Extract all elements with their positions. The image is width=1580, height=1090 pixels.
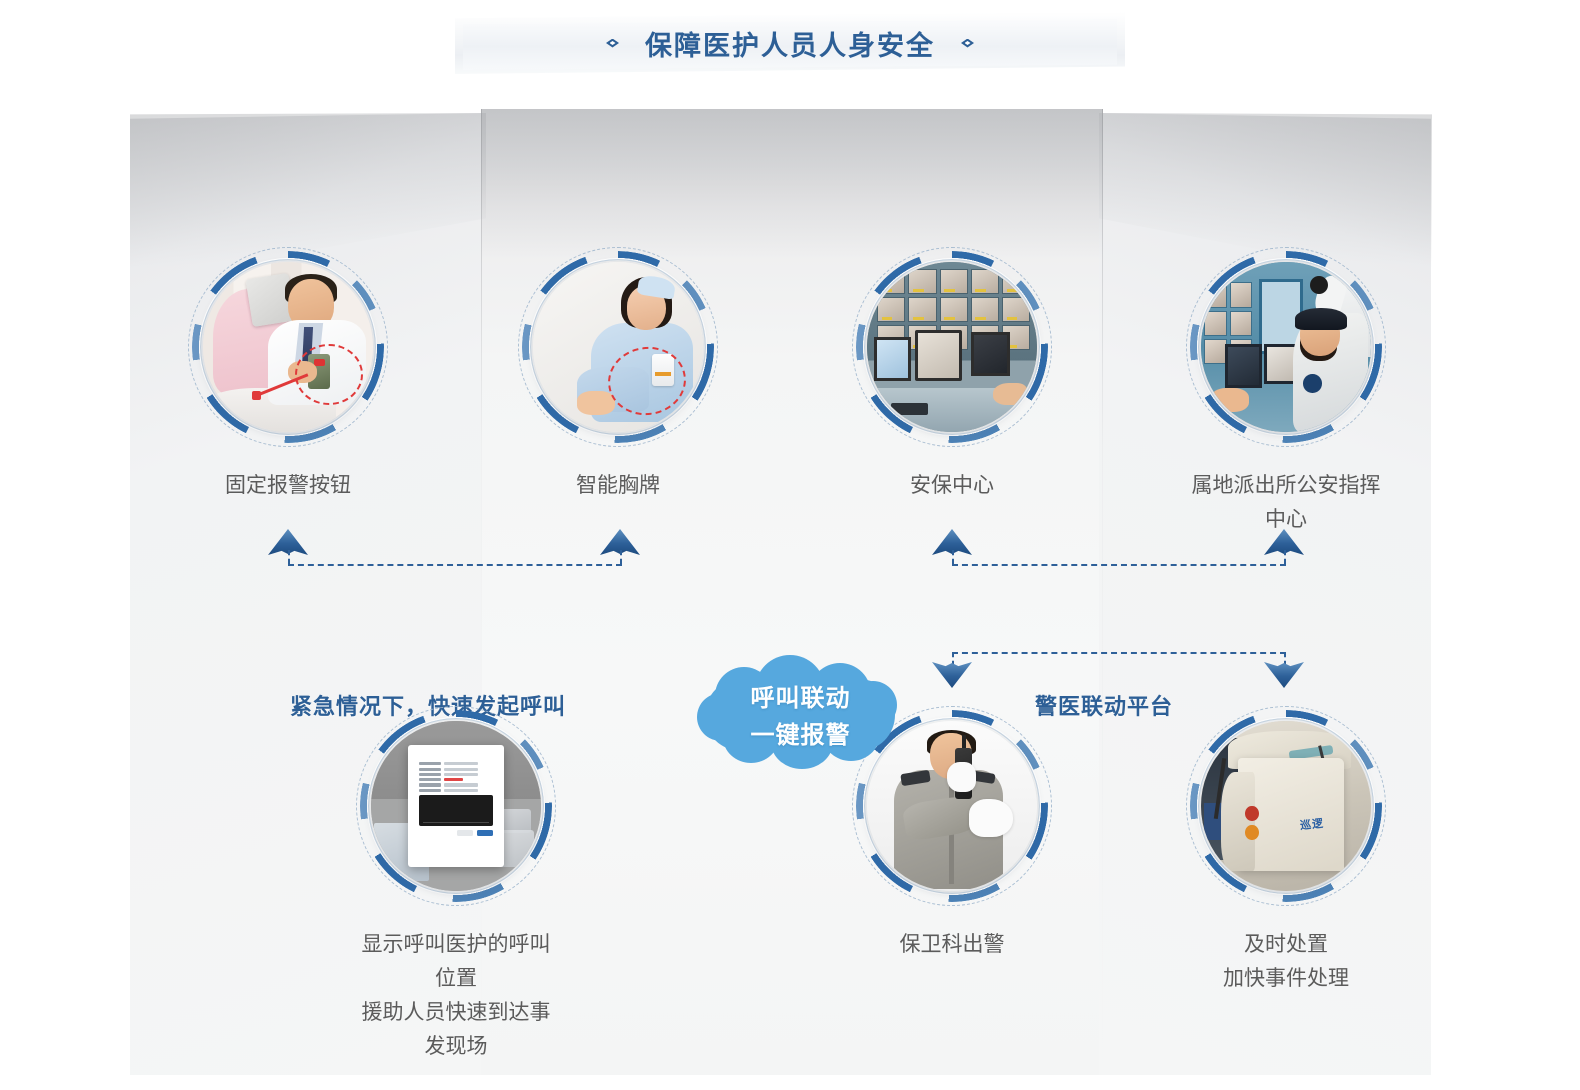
page-title: 保障医护人员人身安全 <box>645 24 935 63</box>
node-label-police-command: 属地派出所公安指挥中心 <box>1186 469 1386 537</box>
node-security-center[interactable]: 安保中心 <box>852 247 1052 503</box>
node-timely-disposal[interactable]: 巡逻 及时处置 加快事件处理 <box>1186 706 1386 996</box>
page-title-banner: 保障医护人员人身安全 <box>455 12 1125 74</box>
connector-label-right: 警医联动平台 <box>1035 689 1173 721</box>
cloud-label-line2: 一键报警 <box>751 715 851 750</box>
photo-security-monitoring-center-video-wall <box>867 262 1037 432</box>
cloud-label-line1: 呼叫联动 <box>751 678 851 713</box>
dash-line-right-top <box>952 564 1286 566</box>
circle-photo-frame <box>1186 247 1386 447</box>
node-fixed-alarm-button[interactable]: 固定报警按钮 <box>188 247 388 503</box>
node-label-timely-disposal: 及时处置 加快事件处理 <box>1186 928 1386 996</box>
photo-patrol-vehicle: 巡逻 <box>1201 721 1371 891</box>
dash-stem-left-up-2 <box>620 550 622 564</box>
node-smart-badge[interactable]: 智能胸牌 <box>518 247 718 503</box>
node-call-location-display[interactable]: 显示呼叫医护的呼叫位置 援助人员快速到达事发现场 <box>356 706 556 1064</box>
dash-line-right-bottom <box>952 652 1286 654</box>
alarm-detail-dialog <box>408 745 503 867</box>
vehicle-marking-text: 巡逻 <box>1299 815 1325 833</box>
node-label-security-dispatch: 保卫科出警 <box>852 928 1052 962</box>
node-label-security-center: 安保中心 <box>852 469 1052 503</box>
photo-local-police-station-command-center <box>1201 262 1371 432</box>
diagram-stage: 固定报警按钮 智能胸牌 <box>0 95 1580 1090</box>
dash-line-left-top <box>288 564 622 566</box>
circle-photo-frame <box>356 706 556 906</box>
dash-stem-left-up-1 <box>288 550 290 564</box>
panel-fold-right <box>1102 109 1103 1075</box>
photo-doctor-pressing-fixed-alarm-button <box>203 262 373 432</box>
photo-alarm-detail-dialog-screenshot <box>371 721 541 891</box>
node-police-command[interactable]: 属地派出所公安指挥中心 <box>1186 247 1386 537</box>
node-label-call-location-display: 显示呼叫医护的呼叫位置 援助人员快速到达事发现场 <box>356 928 556 1064</box>
photo-nurse-wearing-smart-badge <box>533 262 703 432</box>
diamond-icon-left <box>606 39 619 48</box>
node-label-smart-badge: 智能胸牌 <box>518 469 718 503</box>
circle-photo-frame <box>518 247 718 447</box>
circle-photo-frame <box>852 247 1052 447</box>
diamond-icon-right <box>961 39 974 48</box>
dash-stem-right-up-1 <box>952 550 954 564</box>
circle-photo-frame: 巡逻 <box>1186 706 1386 906</box>
dash-stem-right-up-2 <box>1284 550 1286 564</box>
circle-photo-frame <box>188 247 388 447</box>
cloud-badge-call-linkage: 呼叫联动 一键报警 <box>693 653 908 775</box>
node-label-fixed-alarm-button: 固定报警按钮 <box>188 469 388 503</box>
